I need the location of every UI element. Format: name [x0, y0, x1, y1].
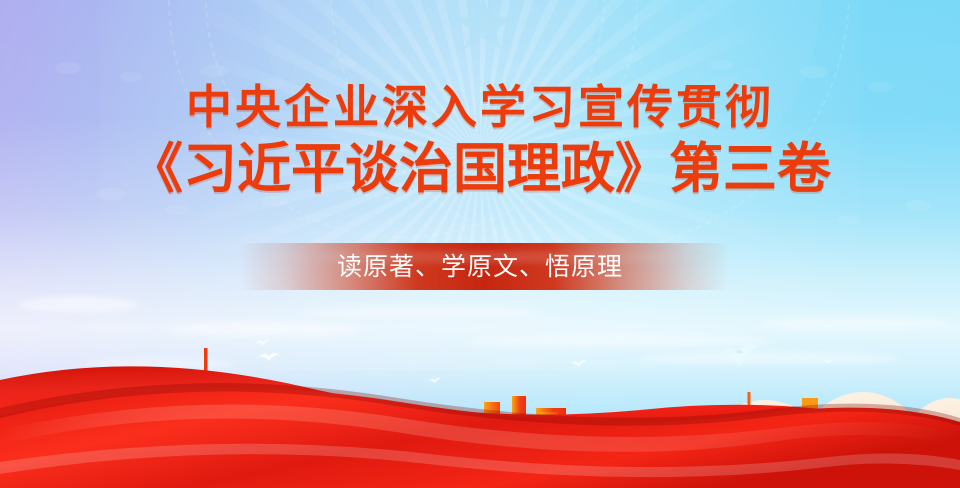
poster-title-line-2: 《习近平谈治国理政》第三卷: [0, 142, 960, 196]
dove-icon: [716, 338, 760, 368]
dove-icon: [823, 352, 835, 359]
dove-icon: [255, 334, 271, 344]
poster-title-line-1: 中央企业深入学习宣传贯彻: [0, 84, 960, 130]
dove-icon: [258, 349, 280, 361]
dove-icon: [570, 355, 588, 365]
poster-banner: 中央企业深入学习宣传贯彻 《习近平谈治国理政》第三卷 读原著、学原文、悟原理: [0, 0, 960, 488]
dove-icon: [428, 371, 442, 379]
poster-subtitle: 读原著、学原文、悟原理: [0, 244, 960, 289]
red-silk-ribbon: [0, 338, 960, 488]
